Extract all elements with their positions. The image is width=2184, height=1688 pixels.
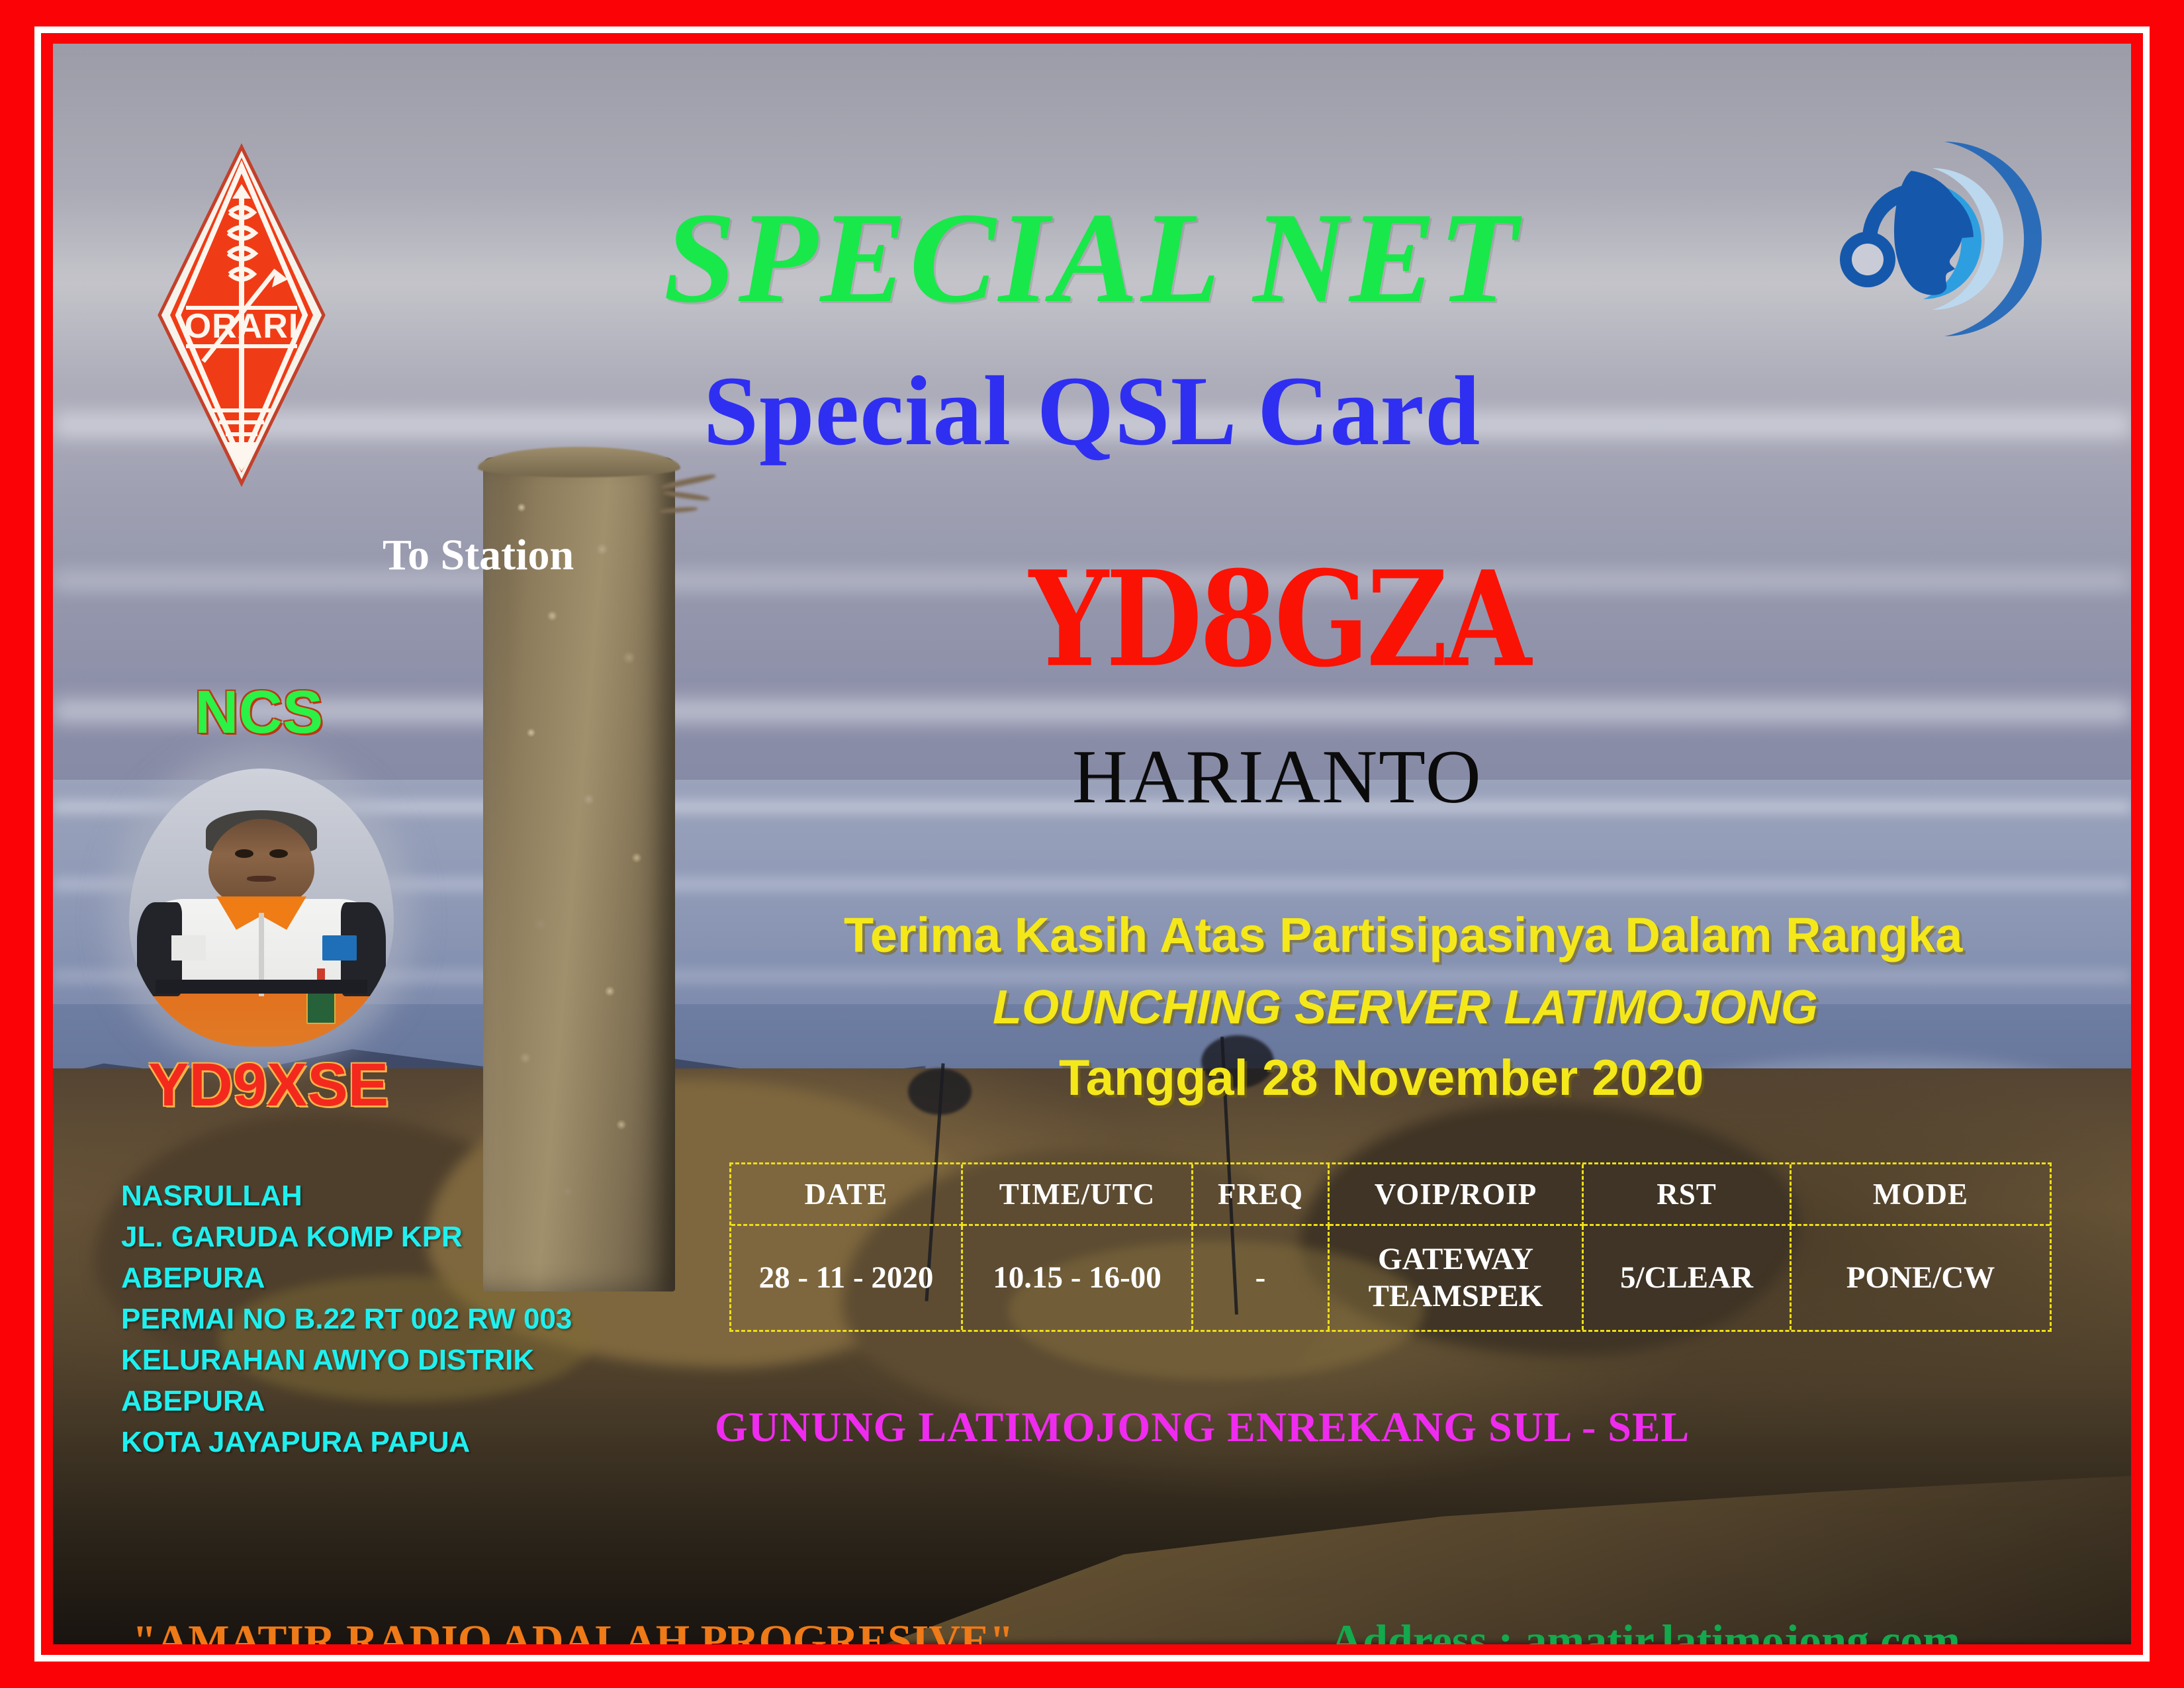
table-header-date: DATE: [731, 1164, 963, 1226]
table-cell-voip: GATEWAY TEAMSPEK: [1330, 1226, 1584, 1330]
qso-log-table: DATE TIME/UTC FREQ VOIP/ROIP RST MODE 28…: [729, 1162, 2052, 1332]
address-line: PERMAI NO B.22 RT 002 RW 003: [121, 1299, 572, 1340]
orari-logo-text: ORARI: [185, 307, 299, 346]
website-address: Address : amatir.latimojong.com: [1330, 1618, 1960, 1644]
address-line: JL. GARUDA KOMP KPR: [121, 1217, 572, 1258]
orari-logo: ORARI: [156, 143, 328, 487]
ncs-operator-photo: [129, 769, 394, 1047]
ncs-label: NCS: [195, 682, 323, 743]
table-header-rst: RST: [1584, 1164, 1792, 1226]
address-line: KOTA JAYAPURA PAPUA: [121, 1422, 572, 1463]
thanks-line: Terima Kasih Atas Partisipasinya Dalam R…: [844, 911, 1962, 960]
station-callsign: YD8GZA: [1029, 553, 1529, 684]
location-line: GUNUNG LATIMOJONG ENREKANG SUL - SEL: [715, 1406, 1690, 1448]
cloud-streak: [53, 700, 2131, 722]
address-line: ABEPURA: [121, 1258, 572, 1299]
motto-text: "AMATIR RADIO ADALAH PROGRESIVE": [132, 1619, 1014, 1644]
page-title: SPECIAL NET: [664, 193, 1521, 323]
background-photograph: ORARI: [53, 44, 2131, 1644]
table-cell-date: 28 - 11 - 2020: [731, 1226, 963, 1330]
table-cell-freq: -: [1193, 1226, 1330, 1330]
address-line: NASRULLAH: [121, 1176, 572, 1217]
stone-summit-pillar: [483, 457, 675, 1291]
station-address-block: NASRULLAH JL. GARUDA KOMP KPR ABEPURA PE…: [121, 1176, 572, 1463]
event-line: LOUNCHING SERVER LATIMOJONG: [993, 984, 1818, 1031]
operator-name: HARIANTO: [1072, 739, 1482, 816]
qsl-card: ORARI: [0, 0, 2184, 1688]
table-header-mode: MODE: [1792, 1164, 2050, 1226]
event-date-line: Tanggal 28 November 2020: [1059, 1053, 1704, 1103]
to-station-label: To Station: [383, 534, 574, 577]
table-cell-mode: PONE/CW: [1792, 1226, 2050, 1330]
table-cell-time: 10.15 - 16-00: [963, 1226, 1193, 1330]
address-line: ABEPURA: [121, 1381, 572, 1422]
page-subtitle: Special QSL Card: [704, 361, 1481, 461]
table-cell-rst: 5/CLEAR: [1584, 1226, 1792, 1330]
table-header-time: TIME/UTC: [963, 1164, 1193, 1226]
headphones-profile-logo: [1833, 130, 2052, 348]
table-header-freq: FREQ: [1193, 1164, 1330, 1226]
table-header-voip: VOIP/ROIP: [1330, 1164, 1584, 1226]
ncs-callsign: YD9XSE: [148, 1055, 388, 1115]
address-line: KELURAHAN AWIYO DISTRIK: [121, 1340, 572, 1381]
